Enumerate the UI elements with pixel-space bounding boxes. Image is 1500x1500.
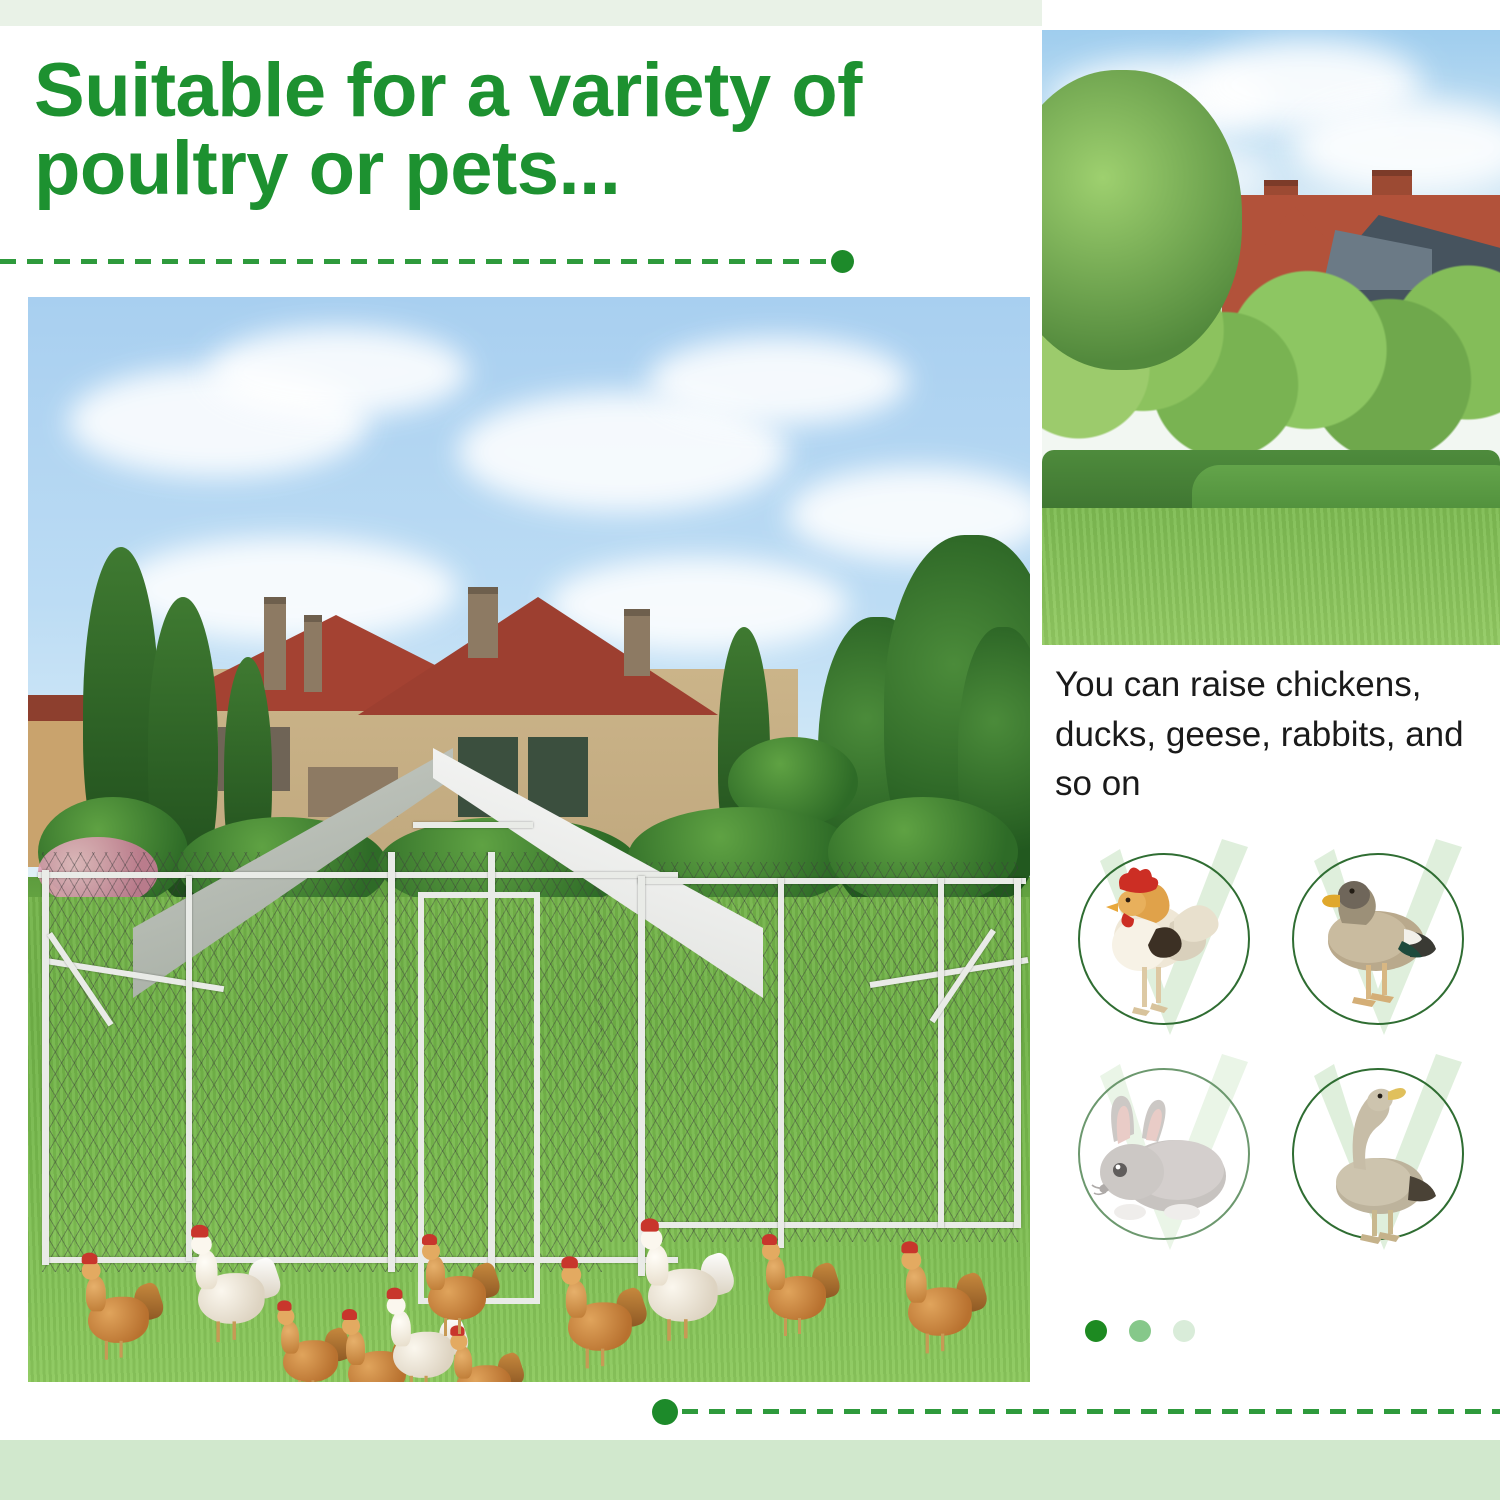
chicken-leg: [784, 1318, 787, 1336]
secondary-image-garden: [1042, 30, 1500, 645]
bottom-accent-band: [0, 1440, 1500, 1500]
pagination-dot[interactable]: [1173, 1320, 1195, 1342]
divider-bottom: [660, 1409, 1500, 1414]
chicken-comb: [901, 1241, 918, 1253]
chicken-leg: [410, 1376, 413, 1382]
frame-rail: [38, 872, 678, 878]
page-title: Suitable for a variety of poultry or pet…: [34, 52, 994, 207]
chicken-neck: [426, 1256, 445, 1290]
chicken-neck: [196, 1250, 218, 1289]
chicken-neck: [86, 1276, 106, 1312]
frame-post: [1014, 878, 1021, 1228]
chicken-leg: [105, 1341, 108, 1360]
chicken-leg: [941, 1334, 944, 1352]
pagination-dot[interactable]: [1129, 1320, 1151, 1342]
frame-rail: [658, 1222, 1018, 1228]
chicken-comb: [387, 1288, 403, 1300]
chicken-leg: [926, 1334, 929, 1354]
frame-post: [186, 876, 192, 1261]
cloud: [208, 327, 468, 417]
chicken-leg: [458, 1318, 461, 1334]
chicken-leg: [425, 1376, 428, 1382]
dot-marker-icon: [831, 250, 854, 273]
chicken-comb: [191, 1225, 208, 1238]
chicken-leg: [444, 1318, 447, 1336]
chicken-neck: [281, 1321, 299, 1353]
door-header-rail: [413, 822, 533, 828]
chicken-comb: [422, 1234, 437, 1245]
animal-item-goose[interactable]: [1284, 1060, 1464, 1250]
animal-item-rabbit[interactable]: [1070, 1060, 1250, 1250]
chimney: [468, 587, 498, 658]
chicken-neck: [646, 1245, 669, 1286]
chicken-neck: [906, 1265, 927, 1302]
animal-item-duck[interactable]: [1284, 845, 1464, 1035]
chicken-leg: [120, 1341, 123, 1358]
chicken-neck: [391, 1311, 411, 1347]
feature-description: You can raise chickens, ducks, geese, ra…: [1055, 660, 1475, 809]
chicken-leg: [684, 1319, 688, 1338]
chimney: [624, 609, 650, 676]
chimney: [264, 597, 286, 690]
frame-post: [938, 878, 944, 1228]
chicken-comb: [342, 1309, 357, 1320]
chicken-comb: [82, 1253, 98, 1265]
chicken-neck: [766, 1256, 785, 1290]
headline-line-2: poultry or pets...: [34, 130, 994, 208]
frame-post: [778, 878, 784, 1248]
frame-post: [638, 876, 645, 1276]
top-accent-band: [0, 0, 1042, 26]
goose-icon: [1284, 1060, 1464, 1250]
chicken-leg: [798, 1318, 801, 1334]
lawn: [1042, 508, 1500, 645]
chicken-neck: [566, 1280, 587, 1317]
frame-rail: [48, 1257, 678, 1263]
frame-rail: [638, 878, 1026, 884]
chicken-neck: [346, 1331, 365, 1365]
house-roof: [358, 597, 718, 715]
chicken-leg: [298, 1380, 301, 1382]
dot-marker-icon: [652, 1399, 678, 1425]
chicken-coop-frame: [38, 752, 1023, 1312]
rabbit-icon: [1070, 1060, 1250, 1250]
chicken-leg: [312, 1380, 315, 1382]
cloud: [648, 337, 908, 425]
chicken-comb: [762, 1234, 777, 1245]
chicken-leg: [586, 1349, 589, 1369]
rooster-icon: [1070, 845, 1250, 1035]
chimney: [304, 615, 322, 692]
chicken-leg: [601, 1349, 604, 1367]
chicken-leg: [667, 1319, 671, 1341]
chicken-comb: [277, 1300, 291, 1310]
hero-image-chicken-coop: [28, 297, 1030, 1382]
frame-post: [42, 870, 49, 1265]
pagination-dot-active[interactable]: [1085, 1320, 1107, 1342]
duck-icon: [1284, 845, 1464, 1035]
page-root: Suitable for a variety of poultry or pet…: [0, 0, 1500, 1500]
chicken-leg: [216, 1321, 219, 1342]
dashed-line: [682, 1409, 1500, 1414]
carousel-pagination[interactable]: [1085, 1320, 1225, 1344]
divider-top: [0, 259, 850, 264]
chicken-leg: [233, 1321, 236, 1339]
chicken-neck: [454, 1346, 472, 1378]
chicken-comb: [641, 1218, 659, 1231]
chicken-comb: [561, 1256, 578, 1268]
animal-item-chicken[interactable]: [1070, 845, 1250, 1035]
frame-post: [388, 852, 395, 1272]
headline-line-1: Suitable for a variety of: [34, 48, 862, 133]
dashed-line: [0, 259, 850, 264]
supported-animals-grid: [1062, 845, 1482, 1275]
